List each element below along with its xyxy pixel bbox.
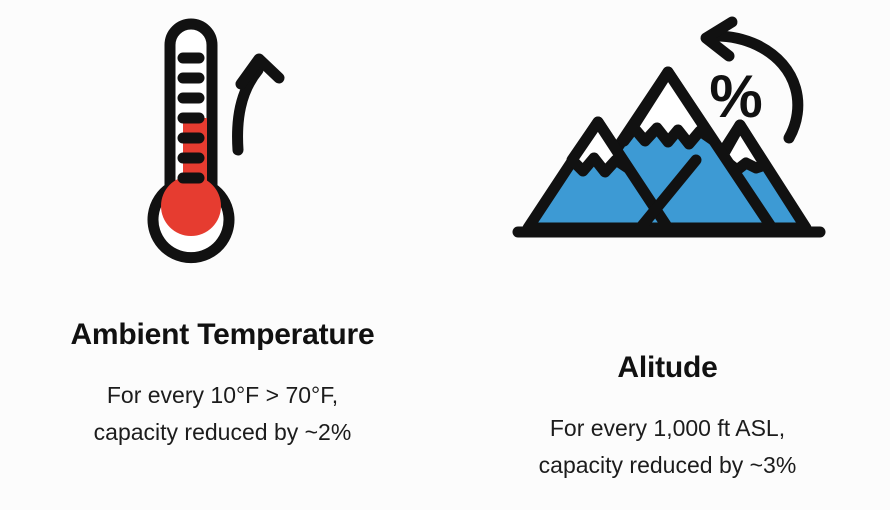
- mountains-icon-area: %: [445, 0, 890, 300]
- page-title-ambient-temperature: Ambient Temperature: [33, 318, 413, 353]
- panel-title-line-2: Temperature: [197, 318, 374, 351]
- panel-title-line-1: Alitude: [617, 351, 717, 384]
- thermometer-rising-icon: [0, 0, 445, 300]
- mountain-left-snowcap: [572, 122, 628, 172]
- panel-altitude: % Alitude For every 1,000 ft ASL, capaci…: [445, 0, 890, 510]
- panel-desc-line-1: For every 1,000 ft ASL,: [468, 410, 868, 447]
- thermometer-bulb-fill: [161, 176, 221, 236]
- panel-desc-line-1: For every 10°F > 70°F,: [23, 377, 423, 414]
- panel-ambient-temperature: Ambient Temperature For every 10°F > 70°…: [0, 0, 445, 510]
- panel-title-line-1: Ambient: [70, 318, 189, 351]
- panel-description-ambient-temperature: For every 10°F > 70°F, capacity reduced …: [23, 377, 423, 451]
- mountains-percent-decline-icon: %: [445, 0, 890, 300]
- infographic-container: Ambient Temperature For every 10°F > 70°…: [0, 0, 890, 510]
- panel-desc-line-2: capacity reduced by ~3%: [468, 447, 868, 484]
- thermometer-tick-marks: [183, 58, 199, 178]
- percent-symbol: %: [709, 63, 762, 130]
- thermometer-icon-area: [0, 0, 445, 300]
- page-title-altitude: Alitude: [478, 351, 858, 386]
- mountain-center-snowcap: [624, 72, 713, 144]
- panel-desc-line-2: capacity reduced by ~2%: [23, 414, 423, 451]
- panel-description-altitude: For every 1,000 ft ASL, capacity reduced…: [468, 410, 868, 484]
